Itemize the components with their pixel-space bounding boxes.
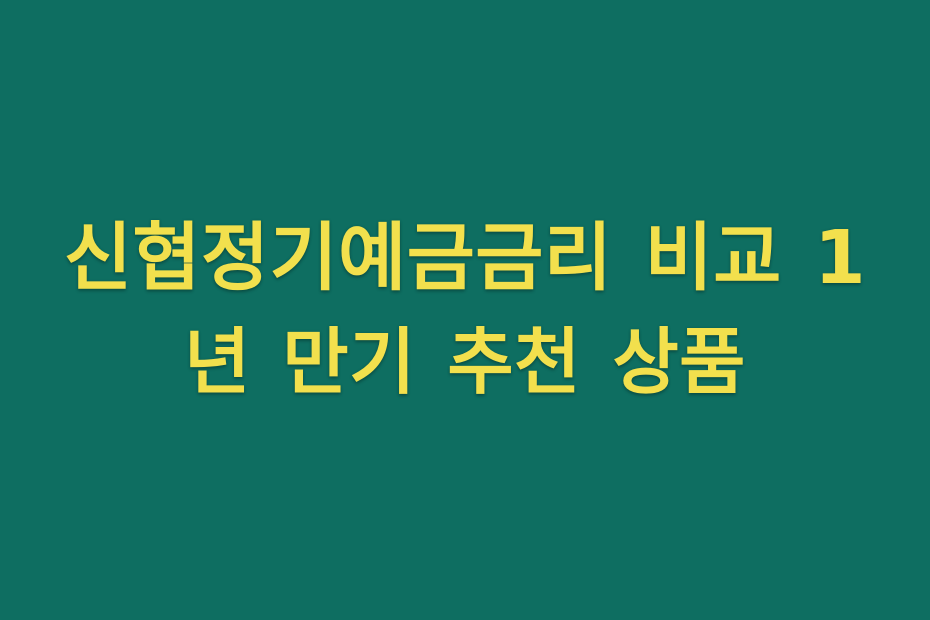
title-line-1: 신협정기예금금리 비교 1 <box>18 206 912 310</box>
title-line-2: 년 만기 추천 상품 <box>18 310 912 414</box>
title-card: 신협정기예금금리 비교 1 년 만기 추천 상품 <box>0 0 930 620</box>
page-title: 신협정기예금금리 비교 1 년 만기 추천 상품 <box>0 206 930 414</box>
